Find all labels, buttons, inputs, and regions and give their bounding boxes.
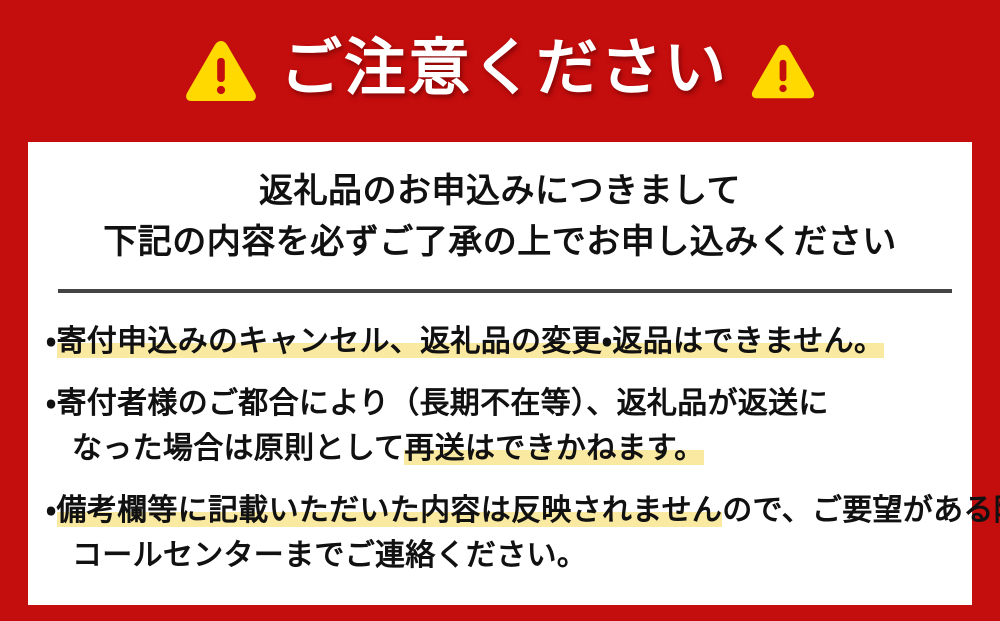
highlighted-text: 寄付申込みのキャンセル、返礼品の変更・返品はできません。 — [57, 325, 885, 358]
notice-text: 寄付者様のご都合により（長期不在等）、返礼品が返送に — [57, 387, 829, 420]
warning-triangle-icon — [750, 42, 816, 101]
highlighted-text: 備考欄等に記載いただいた内容は反映されません — [57, 494, 723, 527]
notice-item: ・寄付申込みのキャンセル、返礼品の変更・返品はできません。 — [46, 319, 972, 365]
notice-text: コールセンターまでご連絡ください。 — [72, 539, 587, 572]
panel-heading-line-1: 返礼品のお申込みにつきまして — [28, 166, 972, 217]
bullet-dot: ・ — [46, 494, 57, 527]
notice-panel: 返礼品のお申込みにつきまして 下記の内容を必ずご了承の上でお申し込みください ・… — [28, 142, 972, 605]
panel-heading: 返礼品のお申込みにつきまして 下記の内容を必ずご了承の上でお申し込みください — [28, 142, 972, 268]
notice-item: ・寄付者様のご都合により（長期不在等）、返礼品が返送になった場合は原則として再送… — [46, 381, 972, 472]
panel-heading-line-2: 下記の内容を必ずご了承の上でお申し込みください — [28, 217, 972, 268]
highlighted-text: 再送はできかねます。 — [404, 432, 704, 465]
notice-item: ・備考欄等に記載いただいた内容は反映されませんので、ご要望がある際はコールセンタ… — [46, 488, 972, 579]
notice-item-line: ・備考欄等に記載いただいた内容は反映されませんので、ご要望がある際は — [46, 488, 972, 534]
notice-item-line: コールセンターまでご連絡ください。 — [46, 533, 972, 579]
bullet-dot: ・ — [46, 325, 57, 358]
bullet-dot: ・ — [46, 387, 57, 420]
notice-item-line: ・寄付者様のご都合により（長期不在等）、返礼品が返送に — [46, 381, 972, 427]
notice-item-line: なった場合は原則として再送はできかねます。 — [46, 426, 972, 472]
notice-header: ご注意ください — [0, 0, 1000, 142]
notice-title: ご注意ください — [280, 38, 728, 104]
notice-item-line: ・寄付申込みのキャンセル、返礼品の変更・返品はできません。 — [46, 319, 972, 365]
notice-list: ・寄付申込みのキャンセル、返礼品の変更・返品はできません。・寄付者様のご都合によ… — [28, 293, 972, 579]
notice-banner: ご注意ください 返礼品のお申込みにつきまして 下記の内容を必ずご了承の上でお申し… — [0, 0, 1000, 621]
notice-text: ので、ご要望がある際は — [722, 494, 1000, 527]
notice-text: なった場合は原則として — [72, 432, 404, 465]
warning-triangle-icon — [184, 38, 258, 104]
